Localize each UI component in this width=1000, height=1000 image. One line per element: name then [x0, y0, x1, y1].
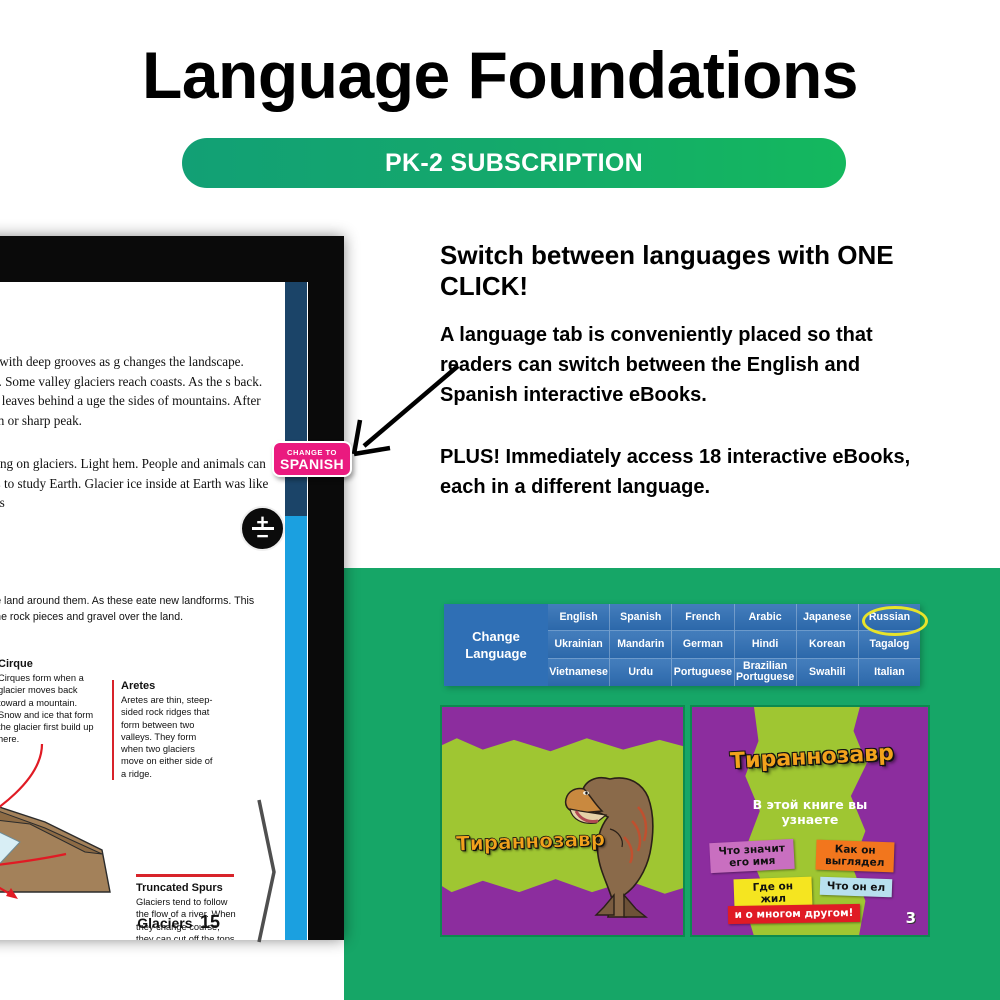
zoom-control[interactable]: + − [240, 506, 285, 551]
change-language-label: Change Language [444, 604, 548, 686]
topic-tag: Что значит его имя [709, 839, 794, 873]
subscription-label: PK-2 SUBSCRIPTION [385, 149, 643, 178]
language-cell-ukrainian[interactable]: Ukrainian [548, 631, 610, 658]
language-cell-portuguese[interactable]: Portuguese [672, 659, 734, 686]
language-cell-swahili[interactable]: Swahili [797, 659, 859, 686]
book-page-number: 3 [906, 909, 916, 927]
book-page-right[interactable]: Тираннозавр В этой книге вы узнаете Что … [690, 705, 930, 937]
language-row: Ukrainian Mandarin German Hindi Korean T… [548, 631, 920, 658]
language-cell-vietnamese[interactable]: Vietnamese [548, 659, 610, 686]
ebook-callout-aretes: Aretes Aretes are thin, steep-sided rock… [112, 680, 220, 780]
page-title: Language Foundations [0, 42, 1000, 108]
header: Language Foundations PK-2 SUBSCRIPTION [0, 0, 1000, 210]
tablet-device: gouge, or cut, the land with deep groove… [0, 236, 344, 940]
language-cell-spanish[interactable]: Spanish [610, 604, 672, 631]
ebook-body-paragraph-1: gouge, or cut, the land with deep groove… [0, 352, 283, 430]
topic-tag: и о многом другом! [728, 904, 860, 924]
topic-tag: Что он ел [820, 877, 893, 898]
language-cell-urdu[interactable]: Urdu [610, 659, 672, 686]
language-cell-brazilian-portuguese[interactable]: Brazilian Portuguese [735, 659, 797, 686]
spanish-tab-line2: SPANISH [274, 457, 350, 472]
ebook-footer-page-number: 15 [200, 912, 220, 932]
language-cell-english[interactable]: English [548, 604, 610, 631]
lang-label-line2: Language [465, 646, 526, 661]
ebook-intro-paragraph: ountain regions, erode the land around t… [0, 594, 278, 625]
ebook-body-paragraph-2: danger to people working on glaciers. Li… [0, 454, 283, 513]
language-grid: English Spanish French Arabic Japanese R… [548, 604, 920, 686]
copy-paragraph-1: A language tab is conveniently placed so… [440, 320, 940, 410]
lang-label-line1: Change [472, 629, 520, 644]
subscription-badge: PK-2 SUBSCRIPTION [182, 138, 846, 188]
ebook-callout-cirque: Cirque Cirques form when a glacier moves… [0, 658, 98, 746]
copy-paragraph-2: PLUS! Immediately access 18 interactive … [440, 442, 940, 502]
marketing-copy-column: Switch between languages with ONE CLICK!… [440, 240, 940, 502]
book-cover-left[interactable]: Тираннозавр [440, 705, 685, 937]
language-cell-italian[interactable]: Italian [859, 659, 920, 686]
language-row: Vietnamese Urdu Portuguese Brazilian Por… [548, 659, 920, 686]
copy-headline: Switch between languages with ONE CLICK! [440, 240, 940, 302]
language-cell-arabic[interactable]: Arabic [735, 604, 797, 631]
language-cell-german[interactable]: German [672, 631, 734, 658]
next-page-chevron-icon[interactable] [256, 796, 278, 946]
change-language-table[interactable]: Change Language English Spanish French A… [444, 604, 920, 686]
zoom-out-icon[interactable]: − [256, 531, 268, 543]
book-right-subtitle: В этой книге вы узнаете [744, 797, 876, 827]
language-cell-french[interactable]: French [672, 604, 734, 631]
language-cell-japanese[interactable]: Japanese [797, 604, 859, 631]
language-cell-tagalog[interactable]: Tagalog [859, 631, 920, 658]
callout-divider-rule [136, 874, 234, 877]
scroll-thumb[interactable] [285, 282, 307, 516]
topic-tag: Как он выглядел [816, 840, 895, 873]
ebook-page: gouge, or cut, the land with deep groove… [0, 282, 285, 940]
ebook-footer-title: Glaciers [137, 915, 192, 931]
language-cell-hindi[interactable]: Hindi [735, 631, 797, 658]
language-cell-mandarin[interactable]: Mandarin [610, 631, 672, 658]
language-cell-russian[interactable]: Russian [859, 604, 920, 631]
ebook-page-footer: Glaciers 15 [70, 912, 220, 933]
language-row: English Spanish French Arabic Japanese R… [548, 604, 920, 631]
change-to-spanish-tab[interactable]: CHANGE TO SPANISH [272, 441, 352, 477]
language-cell-korean[interactable]: Korean [797, 631, 859, 658]
